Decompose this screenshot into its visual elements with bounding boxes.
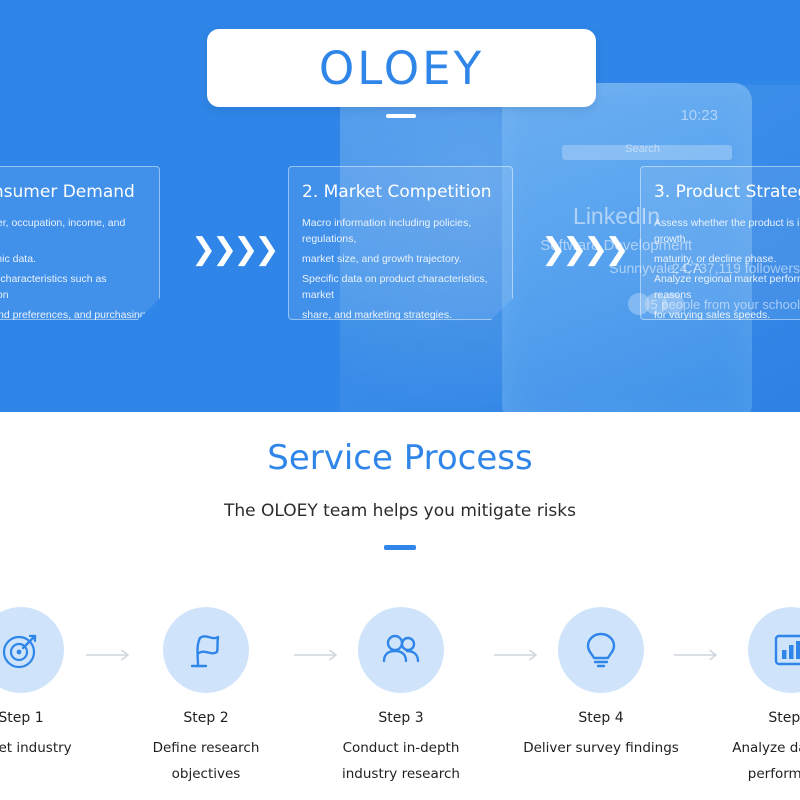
info-card-line: Consumer characteristics such as consump… — [0, 271, 146, 303]
target-arrow-icon — [0, 628, 43, 672]
step-icon-bubble — [358, 607, 444, 693]
info-card-line: maturity, or decline phase. — [654, 251, 800, 267]
step-item-1: Step 1 Target industry — [0, 607, 106, 761]
step-description: Analyze data and performance — [706, 735, 800, 787]
step-icon-bubble — [0, 607, 64, 693]
flag-icon — [184, 628, 228, 672]
brand-title-card: OLOEY — [207, 29, 596, 107]
info-card-market-competition: 2. Market Competition Macro information … — [288, 166, 513, 320]
info-card-line: demographic data. — [0, 251, 146, 267]
step-icon-bubble — [558, 607, 644, 693]
poster-page: 10:23 Search LinkedIn Software Developme… — [0, 0, 800, 800]
people-icon — [378, 627, 424, 673]
step-description: Conduct in-depth industry research — [316, 735, 486, 787]
step-description: Deliver survey findings — [516, 735, 686, 761]
info-card-body: Macro information including policies, re… — [302, 215, 499, 323]
section-subtitle: The OLOEY team helps you mitigate risks — [0, 501, 800, 521]
info-card-title: 2. Market Competition — [302, 182, 499, 202]
step-item-4: Step 4 Deliver survey findings — [516, 607, 686, 761]
info-card-title: 1. Consumer Demand — [0, 182, 146, 202]
info-card-line: Assess whether the product is in the gro… — [654, 215, 800, 247]
step-label: Step 1 — [0, 710, 106, 726]
info-card-consumer-demand: 1. Consumer Demand Age, gender, occupati… — [0, 166, 160, 320]
step-icon-bubble — [748, 607, 800, 693]
info-card-line: Demand for product features, packaging d… — [0, 343, 146, 375]
section-underline — [384, 545, 416, 550]
chevron-right-icon: ❯❯❯❯ — [191, 232, 276, 267]
info-card-line: Macro information including policies, re… — [302, 215, 499, 247]
step-item-5: Step 5 Analyze data and performance — [706, 607, 800, 787]
info-card-line: habits, brand preferences, and purchasin… — [0, 307, 146, 339]
steps-row: Step 1 Target industry Step 2 Define res… — [0, 607, 800, 797]
lightbulb-icon — [579, 628, 623, 672]
info-card-line: Analyze regional market performance and … — [654, 271, 800, 303]
info-card-line: product quality, and other details. — [0, 379, 146, 395]
info-card-line: market size, and growth trajectory. — [302, 251, 499, 267]
step-description: Define research objectives — [121, 735, 291, 787]
info-card-product-strategy: 3. Product Strategy Assess whether the p… — [640, 166, 800, 320]
bar-chart-icon — [769, 628, 800, 672]
step-label: Step 3 — [316, 710, 486, 726]
title-underline — [386, 114, 416, 118]
chevron-right-icon: ❯❯❯❯ — [541, 232, 626, 267]
info-card-title: 3. Product Strategy — [654, 182, 800, 202]
info-card-line: Age, gender, occupation, income, and oth… — [0, 215, 146, 247]
step-item-2: Step 2 Define research objectives — [121, 607, 291, 787]
hero-section: 10:23 Search LinkedIn Software Developme… — [0, 0, 800, 412]
brand-name: OLOEY — [319, 42, 484, 95]
info-card-body: Age, gender, occupation, income, and oth… — [0, 215, 146, 395]
step-item-3: Step 3 Conduct in-depth industry researc… — [316, 607, 486, 787]
photo-time: 10:23 — [680, 107, 718, 124]
step-description: Target industry — [0, 735, 106, 761]
service-process-section: Service Process The OLOEY team helps you… — [0, 412, 800, 800]
info-card-line: Specific data on product characteristics… — [302, 271, 499, 303]
step-label: Step 4 — [516, 710, 686, 726]
photo-search-placeholder: Search — [625, 143, 660, 155]
section-title: Service Process — [0, 438, 800, 478]
step-icon-bubble — [163, 607, 249, 693]
step-label: Step 5 — [706, 710, 800, 726]
step-label: Step 2 — [121, 710, 291, 726]
